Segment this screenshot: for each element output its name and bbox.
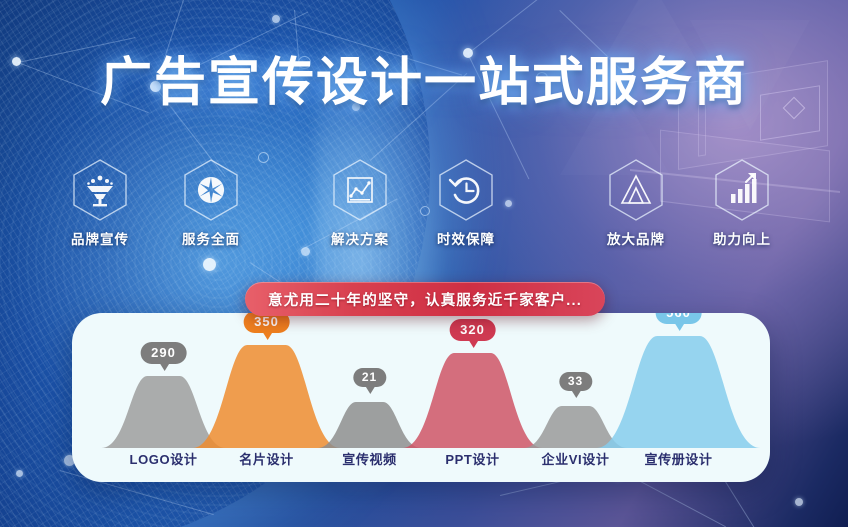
bump-5 <box>597 336 761 448</box>
feature-label: 时效保障 <box>418 228 514 248</box>
feature-label: 服务全面 <box>163 228 259 248</box>
page-title: 广告宣传设计一站式服务商 <box>0 57 848 109</box>
chart-area: 2903502132033560 LOGO设计名片设计宣传视频PPT设计企业VI… <box>72 313 770 482</box>
bubble-tail <box>365 386 375 394</box>
category-label: 宣传视频 <box>342 449 396 468</box>
feature-item-solution[interactable]: 解决方案 <box>312 158 408 248</box>
bubble-tail <box>159 363 169 371</box>
value-bubble: 33 <box>559 372 592 391</box>
feature-item-amplify[interactable]: 放大品牌 <box>588 158 684 248</box>
feature-label: 解决方案 <box>312 228 408 248</box>
bubble-tail <box>674 323 684 331</box>
feature-label: 品牌宣传 <box>52 228 148 248</box>
category-label: PPT设计 <box>445 449 499 468</box>
bump-2 <box>318 402 422 448</box>
chart-card: 2903502132033560 LOGO设计名片设计宣传视频PPT设计企业VI… <box>72 313 770 482</box>
value-bubble: 320 <box>449 319 496 341</box>
value-bubble: 350 <box>243 313 290 333</box>
category-label-list: LOGO设计名片设计宣传视频PPT设计企业VI设计宣传册设计 <box>72 449 770 475</box>
feature-label: 助力向上 <box>694 228 790 248</box>
value-bubble: 560 <box>655 313 702 324</box>
bubble-tail <box>571 390 581 398</box>
bump-0 <box>102 376 226 448</box>
category-label: 名片设计 <box>239 449 293 468</box>
feature-list: 品牌宣传 服务全面 <box>0 158 848 250</box>
bump-3 <box>403 353 543 448</box>
megaphone-icon <box>71 158 129 222</box>
feature-item-growth[interactable]: 助力向上 <box>694 158 790 248</box>
triangle-icon <box>607 158 665 222</box>
aperture-icon <box>182 158 240 222</box>
feature-item-service[interactable]: 服务全面 <box>163 158 259 248</box>
feature-item-timeliness[interactable]: 时效保障 <box>418 158 514 248</box>
poster-stage: 广告宣传设计一站式服务商 品牌宣传 <box>0 0 848 527</box>
clock-history-icon <box>437 158 495 222</box>
tagline-banner: 意尤用二十年的坚守，认真服务近千家客户... <box>245 282 605 316</box>
line-chart-icon <box>331 158 389 222</box>
category-label: 宣传册设计 <box>644 449 712 468</box>
bubble-tail <box>262 332 272 340</box>
bar-chart-up-icon <box>713 158 771 222</box>
bump-1 <box>193 345 341 448</box>
value-bubble: 21 <box>353 368 386 387</box>
bubble-tail <box>468 340 478 348</box>
feature-item-brand[interactable]: 品牌宣传 <box>52 158 148 248</box>
value-bubble: 290 <box>140 342 187 364</box>
category-label: LOGO设计 <box>130 449 198 468</box>
category-label: 企业VI设计 <box>542 449 610 468</box>
feature-label: 放大品牌 <box>588 228 684 248</box>
